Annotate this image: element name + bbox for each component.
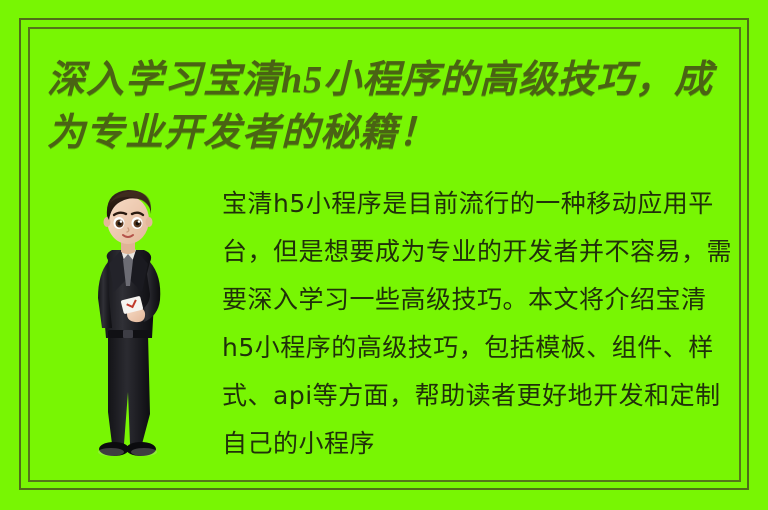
poster-body-text: 宝清h5小程序是目前流行的一种移动应用平台，但是想要成为专业的开发者并不容易，需… [222, 180, 738, 468]
businessman-character-illustration [78, 182, 178, 468]
poster-canvas: 深入学习宝清h5小程序的高级技巧，成为专业开发者的秘籍！ [0, 0, 768, 510]
poster-title: 深入学习宝清h5小程序的高级技巧，成为专业开发者的秘籍！ [47, 54, 747, 160]
